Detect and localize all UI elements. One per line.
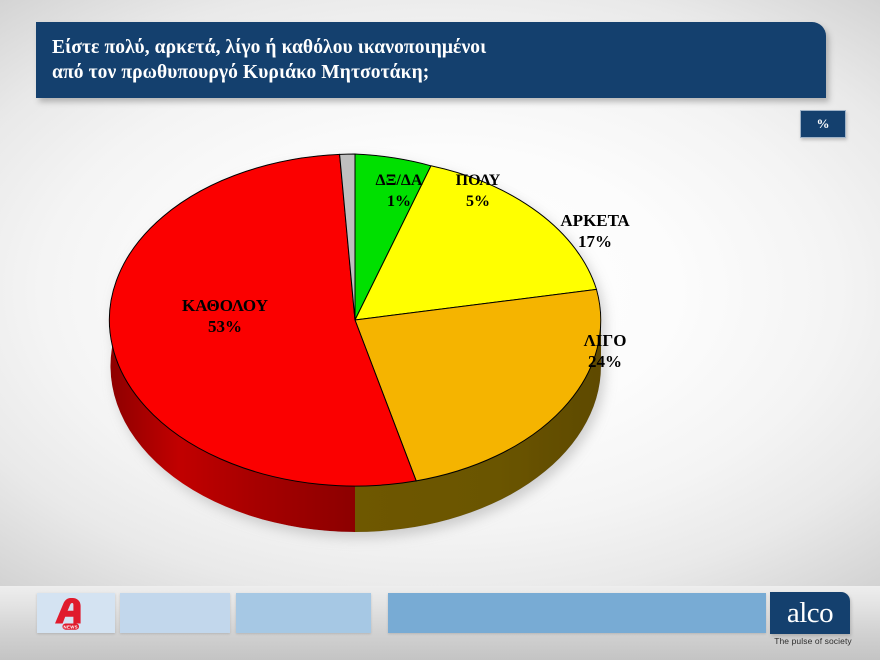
alpha-news-logo: NEWS xyxy=(50,596,102,632)
pie-chart: ΚΑΘΟΛΟΥ 53% ΔΞ/ΔΑ 1% ΠΟΛΥ 5% ΑΡΚΕΤΑ 17% … xyxy=(0,130,880,570)
footer-bar-1 xyxy=(120,593,230,633)
poll-result-slide: Είστε πολύ, αρκετά, λίγο ή καθόλου ικανο… xyxy=(0,0,880,660)
alpha-news-logo-icon: NEWS xyxy=(50,596,102,632)
pie-body xyxy=(109,154,601,532)
page-title: Είστε πολύ, αρκετά, λίγο ή καθόλου ικανο… xyxy=(52,35,816,85)
footer-bar-2 xyxy=(236,593,371,633)
footer-bar-3 xyxy=(388,593,766,633)
pie-chart-svg xyxy=(0,130,880,570)
alco-wordmark: alco xyxy=(787,599,833,628)
alco-logo: alco xyxy=(770,592,850,634)
title-banner: Είστε πολύ, αρκετά, λίγο ή καθόλου ικανο… xyxy=(36,22,826,98)
alco-tagline: The pulse of society xyxy=(770,636,856,646)
svg-text:NEWS: NEWS xyxy=(64,624,78,629)
